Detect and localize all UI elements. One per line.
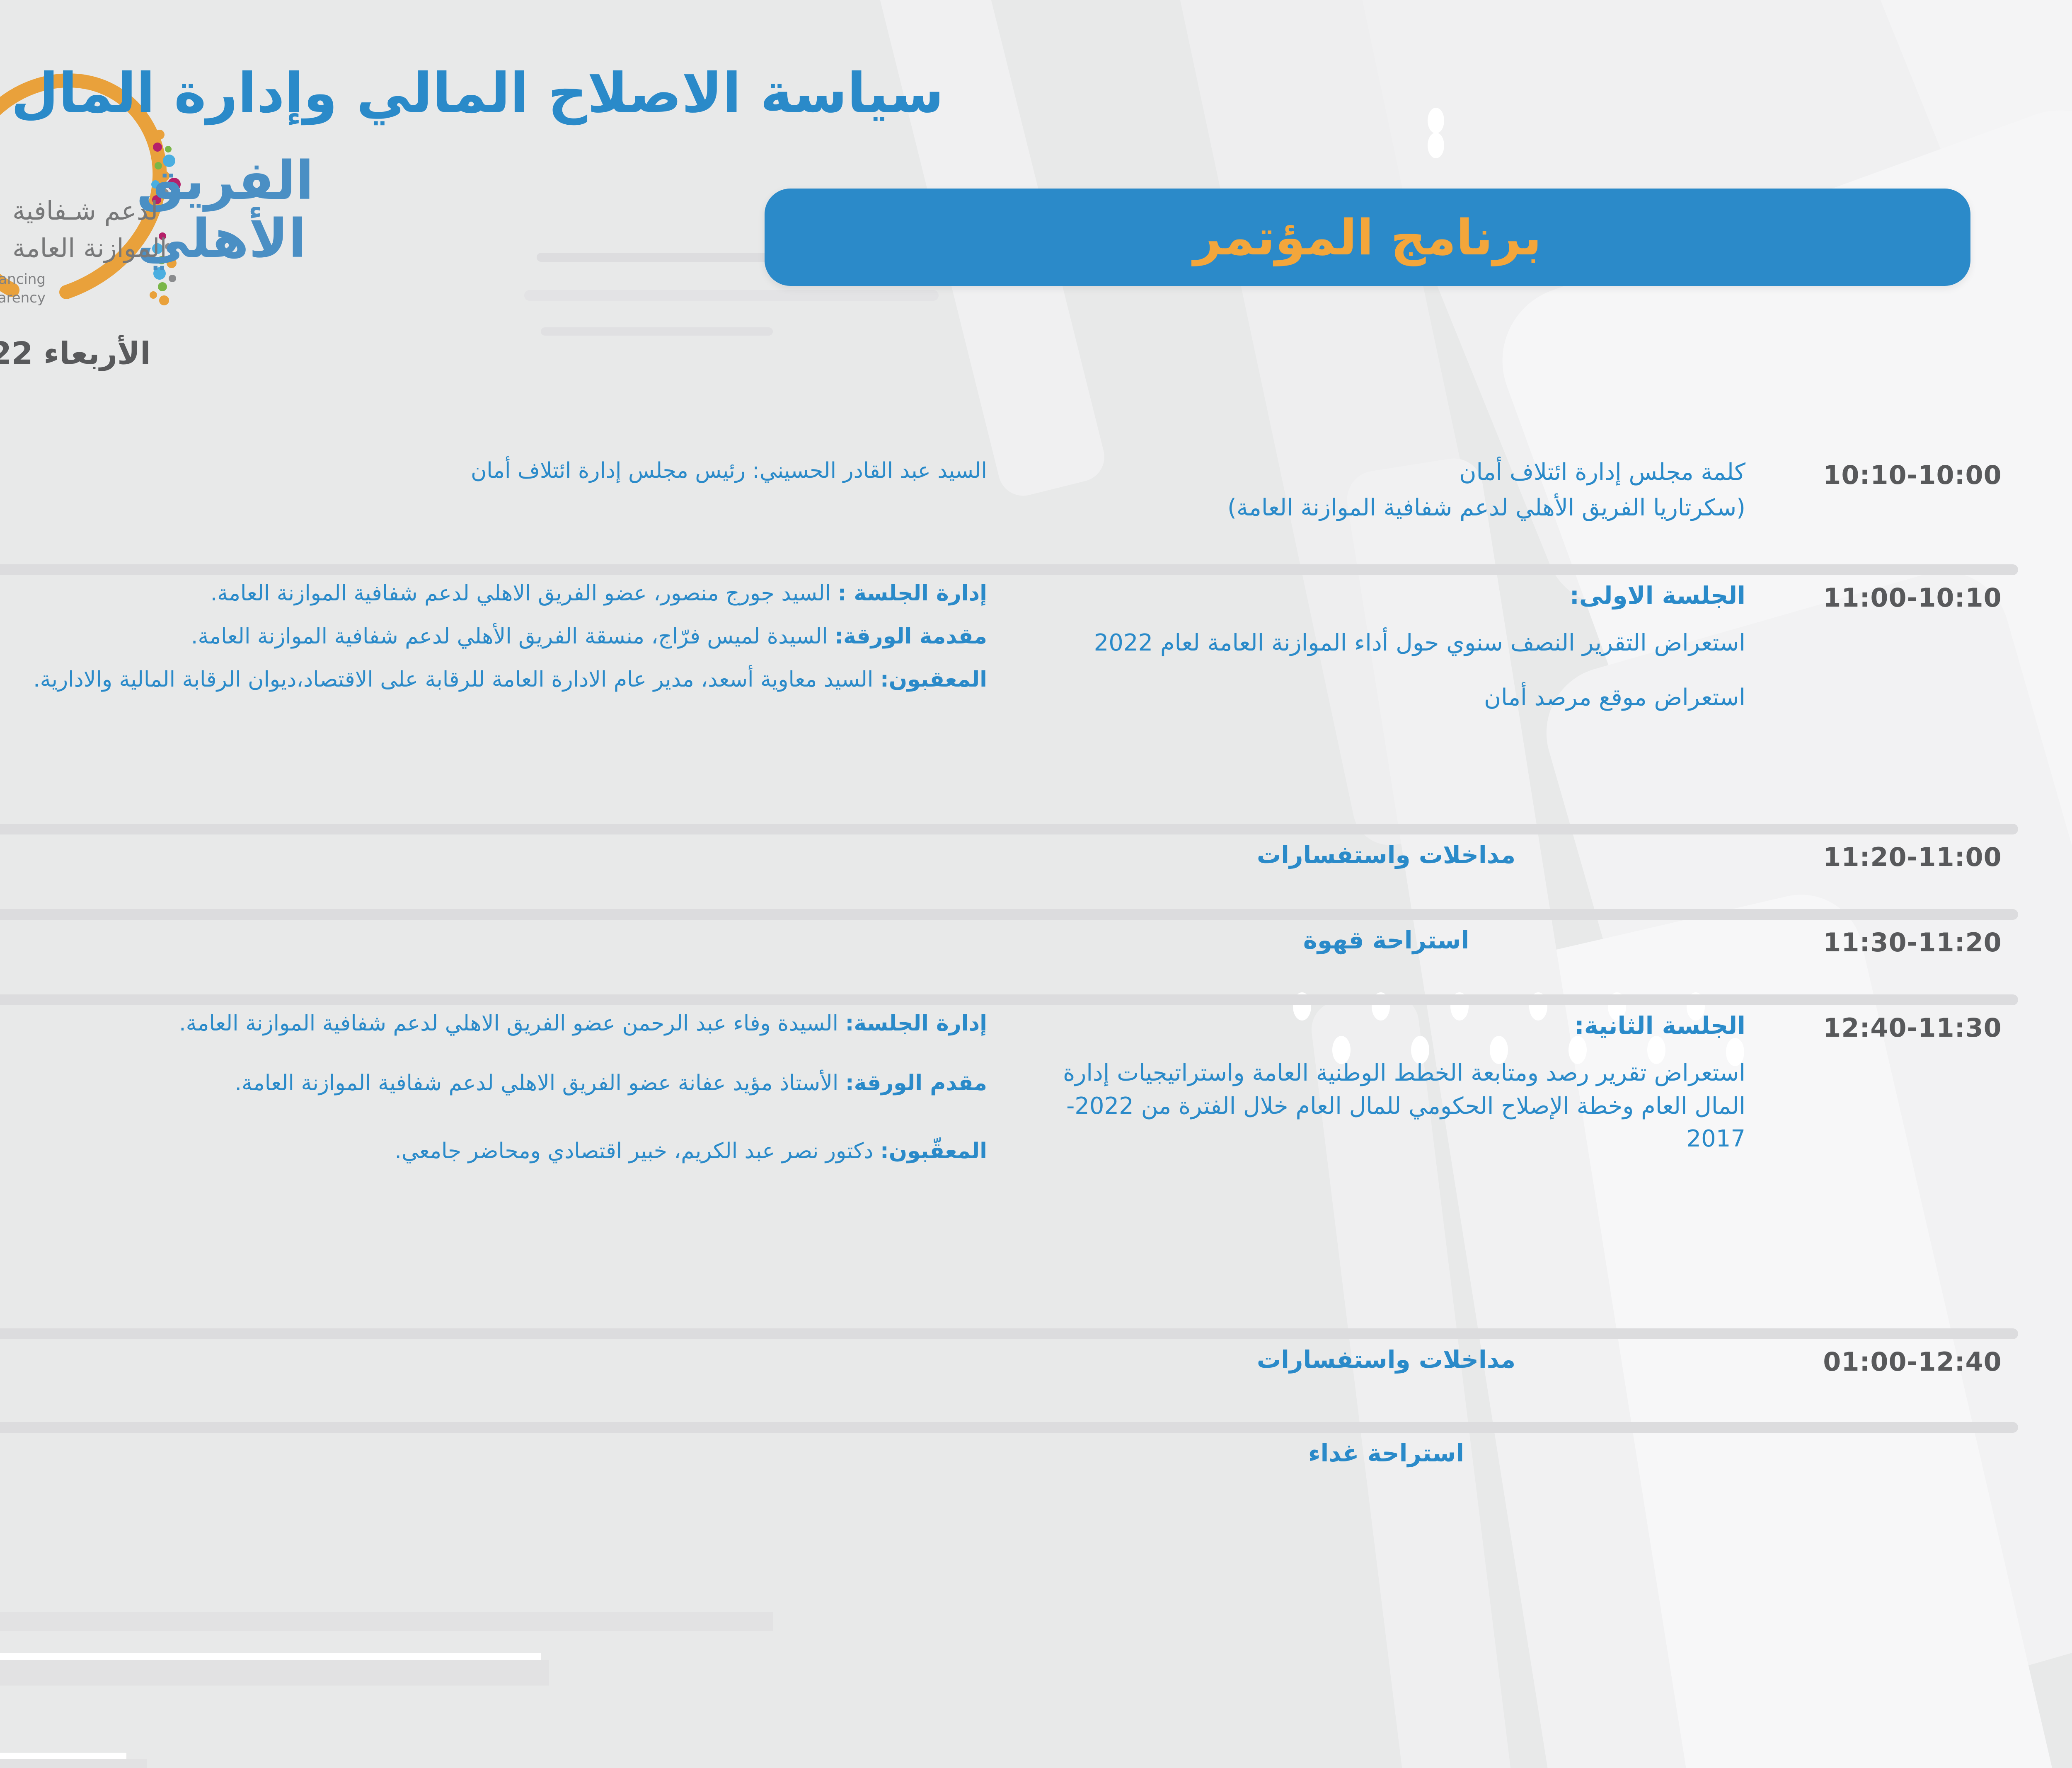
logo-tagline-en-1: Civil Society Team for Enhancing <box>0 271 46 288</box>
bg-stripe <box>0 1660 549 1686</box>
program-row-time: 12:40-11:30 <box>1753 1009 2072 1043</box>
program-row-topic: الجلسة الاولى: استعراض التقرير النصف سنو… <box>1012 578 1753 714</box>
person-role-label: المعقّبون: <box>880 1139 987 1163</box>
topic-line: (سكرتاريا الفريق الأهلي لدعم شفافية المو… <box>1012 491 1745 525</box>
program-row-topic: الجلسة الثانية: استعراض تقرير رصد ومتابع… <box>1012 1009 1753 1156</box>
person-text: السيد عبد القادر الحسيني: رئيس مجلس إدار… <box>471 458 987 483</box>
program-row: 11:00-10:10 الجلسة الاولى: استعراض التقر… <box>0 578 2072 819</box>
program-row: 11:20-11:00 مداخلات واستفسارات <box>0 838 2072 904</box>
program-row-time: 11:30-11:20 <box>1753 923 2072 958</box>
bg-stripe-white <box>0 1753 126 1759</box>
program-row-time: 11:20-11:00 <box>1753 838 2072 872</box>
person-text: السيدة وفاء عبد الرحمن عضو الفريق الاهلي… <box>179 1011 838 1036</box>
topic-line: استعراض تقرير رصد ومتابعة الخطط الوطنية … <box>1012 1057 1745 1156</box>
row-separator <box>0 989 2072 1009</box>
program-row: 10:10-10:00 كلمة مجلس إدارة ائتلاف أمان … <box>0 456 2072 559</box>
person-entry: إدارة الجلسة: السيدة وفاء عبد الرحمن عضو… <box>0 1009 987 1039</box>
program-row-people: السيد عبد القادر الحسيني: رئيس مجلس إدار… <box>0 456 1012 486</box>
logo-name-line1: الفريق <box>137 150 314 212</box>
topic-line: استعراض التقرير النصف سنوي حول أداء المو… <box>1012 626 1745 660</box>
person-text: السيد معاوية أسعد، مدير عام الادارة العا… <box>33 667 873 692</box>
program-row-topic: مداخلات واستفسارات <box>1019 1342 1753 1376</box>
program-row-topic: استراحة غداء <box>1019 1436 1753 1470</box>
bg-stripe <box>0 1759 147 1768</box>
conference-program-poster: الفريق الأهلي لدعم شـفافية الموازنة العا… <box>0 0 2072 1768</box>
person-text: السيد جورج منصور، عضو الفريق الاهلي لدعم… <box>211 581 831 606</box>
program-row-topic: مداخلات واستفسارات <box>1019 838 1753 872</box>
program-row-time: 11:00-10:10 <box>1753 578 2072 613</box>
program-row: 01:00-12:40 مداخلات واستفسارات <box>0 1342 2072 1417</box>
program-row-time <box>1753 1436 2072 1440</box>
row-separator <box>0 1323 2072 1342</box>
bg-stripe-white <box>0 1653 541 1660</box>
conference-date: الأربعاء 24/8/2022 <box>0 336 1977 371</box>
program-row-people: إدارة الجلسة: السيدة وفاء عبد الرحمن عضو… <box>0 1009 1012 1166</box>
person-entry: إدارة الجلسة : السيد جورج منصور، عضو الف… <box>0 578 987 609</box>
person-role-label: مقدمة الورقة: <box>835 624 987 649</box>
topic-subline: استعراض موقع مرصد أمان <box>1012 681 1745 714</box>
session-heading: الجلسة الثانية: <box>1012 1009 1745 1042</box>
person-text: دكتور نصر عبد الكريم، خبير اقتصادي ومحاض… <box>395 1139 873 1163</box>
person-role-label: إدارة الجلسة : <box>838 581 987 606</box>
person-entry: السيد عبد القادر الحسيني: رئيس مجلس إدار… <box>0 456 987 486</box>
person-role-label: المعقبون: <box>880 667 987 692</box>
logo-tagline-ar-2: الموازنة العامة <box>12 233 167 263</box>
poster-header: الفريق الأهلي لدعم شـفافية الموازنة العا… <box>0 0 2072 439</box>
row-separator <box>0 559 2072 578</box>
row-separator <box>0 819 2072 838</box>
program-title-pill: برنامج المؤتمر <box>765 189 1970 286</box>
person-entry: مقدم الورقة: الأستاذ مؤيد عفانة عضو الفر… <box>0 1068 987 1099</box>
row-separator <box>0 1417 2072 1436</box>
page-title: سياسة الاصلاح المالي وإدارة المال العام <box>0 61 1977 125</box>
person-entry: المعقبون: السيد معاوية أسعد، مدير عام ال… <box>0 665 987 695</box>
person-text: السيدة لميس فرّاج، منسقة الفريق الأهلي ل… <box>191 624 828 649</box>
program-schedule: 10:10-10:00 كلمة مجلس إدارة ائتلاف أمان … <box>0 456 2072 1511</box>
row-separator <box>0 904 2072 923</box>
topic-line: كلمة مجلس إدارة ائتلاف أمان <box>1012 456 1745 489</box>
program-row-topic: كلمة مجلس إدارة ائتلاف أمان (سكرتاريا ال… <box>1012 456 1753 524</box>
program-title-label: برنامج المؤتمر <box>1193 209 1542 266</box>
program-row-topic: استراحة قهوة <box>1019 923 1753 957</box>
session-heading: الجلسة الاولى: <box>1012 578 1745 612</box>
person-entry: مقدمة الورقة: السيدة لميس فرّاج، منسقة ا… <box>0 622 987 652</box>
program-row: 12:40-11:30 الجلسة الثانية: استعراض تقري… <box>0 1009 2072 1323</box>
program-row: استراحة غداء <box>0 1436 2072 1511</box>
bg-stripe <box>0 1612 773 1631</box>
person-entry: المعقّبون: دكتور نصر عبد الكريم، خبير اق… <box>0 1136 987 1167</box>
person-text: الأستاذ مؤيد عفانة عضو الفريق الاهلي لدع… <box>235 1071 838 1096</box>
logo-tagline-en-2: Pubic Budget Transparency <box>0 290 46 306</box>
program-row-time: 10:10-10:00 <box>1753 456 2072 490</box>
logo-tagline-ar-1: لدعم شـفافية <box>12 196 158 226</box>
program-row-time: 01:00-12:40 <box>1753 1342 2072 1377</box>
person-role-label: مقدم الورقة: <box>845 1071 987 1096</box>
person-role-label: إدارة الجلسة: <box>845 1011 987 1036</box>
program-row: 11:30-11:20 استراحة قهوة <box>0 923 2072 989</box>
program-row-people: إدارة الجلسة : السيد جورج منصور، عضو الف… <box>0 578 1012 695</box>
